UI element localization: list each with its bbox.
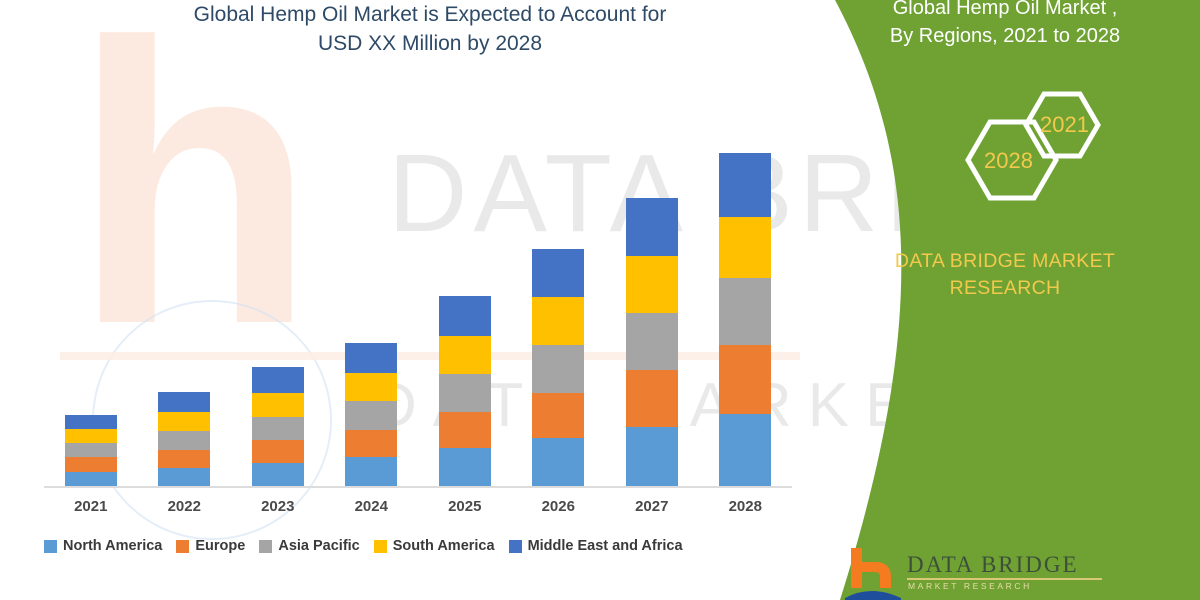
segment-middle-east-and-africa-2026[interactable] bbox=[532, 249, 584, 298]
legend-swatch-icon bbox=[259, 540, 272, 553]
logo-wordmark: DATA BRIDGE bbox=[907, 552, 1079, 578]
x-label-2022: 2022 bbox=[144, 498, 224, 515]
segment-asia-pacific-2021[interactable] bbox=[65, 443, 117, 457]
legend-swatch-icon bbox=[509, 540, 522, 553]
green-panel-title-line-2: By Regions, 2021 to 2028 bbox=[840, 22, 1170, 50]
segment-south-america-2026[interactable] bbox=[532, 297, 584, 345]
segment-europe-2025[interactable] bbox=[439, 412, 491, 448]
segment-south-america-2021[interactable] bbox=[65, 429, 117, 443]
logo-subtext: MARKET RESEARCH bbox=[908, 581, 1032, 591]
legend-item-europe[interactable]: Europe bbox=[176, 538, 245, 554]
green-panel-title-line-1: Global Hemp Oil Market , bbox=[840, 0, 1170, 22]
stacked-bar-chart: 20212022202320242025202620272028 North A… bbox=[0, 0, 800, 600]
segment-north-america-2021[interactable] bbox=[65, 472, 117, 486]
segment-south-america-2028[interactable] bbox=[719, 217, 771, 278]
segment-asia-pacific-2028[interactable] bbox=[719, 278, 771, 345]
segment-middle-east-and-africa-2024[interactable] bbox=[345, 343, 397, 373]
segment-europe-2027[interactable] bbox=[626, 370, 678, 427]
segment-north-america-2025[interactable] bbox=[439, 448, 491, 486]
x-label-2027: 2027 bbox=[612, 498, 692, 515]
bar-2021[interactable] bbox=[65, 415, 117, 486]
segment-south-america-2025[interactable] bbox=[439, 336, 491, 374]
green-panel-title: Global Hemp Oil Market , By Regions, 202… bbox=[840, 0, 1170, 50]
segment-asia-pacific-2025[interactable] bbox=[439, 374, 491, 412]
segment-south-america-2022[interactable] bbox=[158, 412, 210, 431]
segment-middle-east-and-africa-2025[interactable] bbox=[439, 296, 491, 336]
segment-south-america-2027[interactable] bbox=[626, 256, 678, 313]
segment-asia-pacific-2027[interactable] bbox=[626, 313, 678, 370]
hexagon-2021-label: 2021 bbox=[1040, 112, 1089, 138]
segment-asia-pacific-2023[interactable] bbox=[252, 417, 304, 441]
bar-2027[interactable] bbox=[626, 198, 678, 486]
segment-europe-2023[interactable] bbox=[252, 440, 304, 463]
legend-swatch-icon bbox=[44, 540, 57, 553]
segment-asia-pacific-2024[interactable] bbox=[345, 401, 397, 430]
segment-middle-east-and-africa-2021[interactable] bbox=[65, 415, 117, 429]
segment-middle-east-and-africa-2022[interactable] bbox=[158, 392, 210, 412]
legend-label: South America bbox=[393, 538, 495, 554]
legend-label: North America bbox=[63, 538, 162, 554]
green-side-panel: Global Hemp Oil Market , By Regions, 202… bbox=[800, 0, 1200, 600]
segment-middle-east-and-africa-2027[interactable] bbox=[626, 198, 678, 255]
x-label-2026: 2026 bbox=[518, 498, 598, 515]
data-bridge-logo: DATA BRIDGE MARKET RESEARCH bbox=[845, 548, 1175, 600]
legend-swatch-icon bbox=[374, 540, 387, 553]
brand-name: DATA BRIDGE MARKET RESEARCH bbox=[830, 248, 1180, 302]
bar-2028[interactable] bbox=[719, 153, 771, 486]
segment-europe-2024[interactable] bbox=[345, 430, 397, 458]
legend-item-south-america[interactable]: South America bbox=[374, 538, 495, 554]
b-bridge-mark-icon bbox=[845, 548, 901, 600]
segment-asia-pacific-2026[interactable] bbox=[532, 345, 584, 393]
segment-north-america-2024[interactable] bbox=[345, 457, 397, 486]
bar-2026[interactable] bbox=[532, 249, 584, 486]
x-label-2028: 2028 bbox=[705, 498, 785, 515]
segment-europe-2022[interactable] bbox=[158, 450, 210, 468]
x-label-2023: 2023 bbox=[238, 498, 318, 515]
x-label-2025: 2025 bbox=[425, 498, 505, 515]
bar-2022[interactable] bbox=[158, 392, 210, 486]
bar-2024[interactable] bbox=[345, 343, 397, 486]
logo-divider bbox=[907, 578, 1102, 580]
segment-europe-2026[interactable] bbox=[532, 393, 584, 439]
segment-north-america-2028[interactable] bbox=[719, 414, 771, 486]
segment-asia-pacific-2022[interactable] bbox=[158, 431, 210, 450]
legend-label: Middle East and Africa bbox=[528, 538, 683, 554]
x-axis-line bbox=[44, 486, 792, 488]
x-label-2021: 2021 bbox=[51, 498, 131, 515]
legend-label: Asia Pacific bbox=[278, 538, 359, 554]
chart-legend: North AmericaEuropeAsia PacificSouth Ame… bbox=[44, 538, 804, 554]
x-label-2024: 2024 bbox=[331, 498, 411, 515]
segment-europe-2021[interactable] bbox=[65, 457, 117, 471]
segment-north-america-2023[interactable] bbox=[252, 463, 304, 486]
x-axis-labels: 20212022202320242025202620272028 bbox=[44, 498, 792, 524]
brand-name-line-1: DATA BRIDGE MARKET bbox=[830, 248, 1180, 275]
segment-north-america-2026[interactable] bbox=[532, 438, 584, 486]
plot-area bbox=[44, 86, 792, 486]
bar-2025[interactable] bbox=[439, 296, 491, 486]
infographic-canvas: h DATA BRI DATA MARKET RESEARCH Global H… bbox=[0, 0, 1200, 600]
segment-middle-east-and-africa-2028[interactable] bbox=[719, 153, 771, 218]
legend-item-north-america[interactable]: North America bbox=[44, 538, 162, 554]
segment-middle-east-and-africa-2023[interactable] bbox=[252, 367, 304, 393]
segment-europe-2028[interactable] bbox=[719, 345, 771, 414]
legend-item-asia-pacific[interactable]: Asia Pacific bbox=[259, 538, 359, 554]
segment-south-america-2023[interactable] bbox=[252, 393, 304, 417]
hexagon-logo-group: 2028 2021 bbox=[840, 88, 1170, 233]
hexagon-2028-label: 2028 bbox=[984, 148, 1033, 174]
legend-swatch-icon bbox=[176, 540, 189, 553]
segment-north-america-2022[interactable] bbox=[158, 468, 210, 486]
legend-item-middle-east-and-africa[interactable]: Middle East and Africa bbox=[509, 538, 683, 554]
legend-label: Europe bbox=[195, 538, 245, 554]
segment-north-america-2027[interactable] bbox=[626, 427, 678, 486]
bar-2023[interactable] bbox=[252, 367, 304, 486]
segment-south-america-2024[interactable] bbox=[345, 373, 397, 402]
brand-name-line-2: RESEARCH bbox=[830, 275, 1180, 302]
